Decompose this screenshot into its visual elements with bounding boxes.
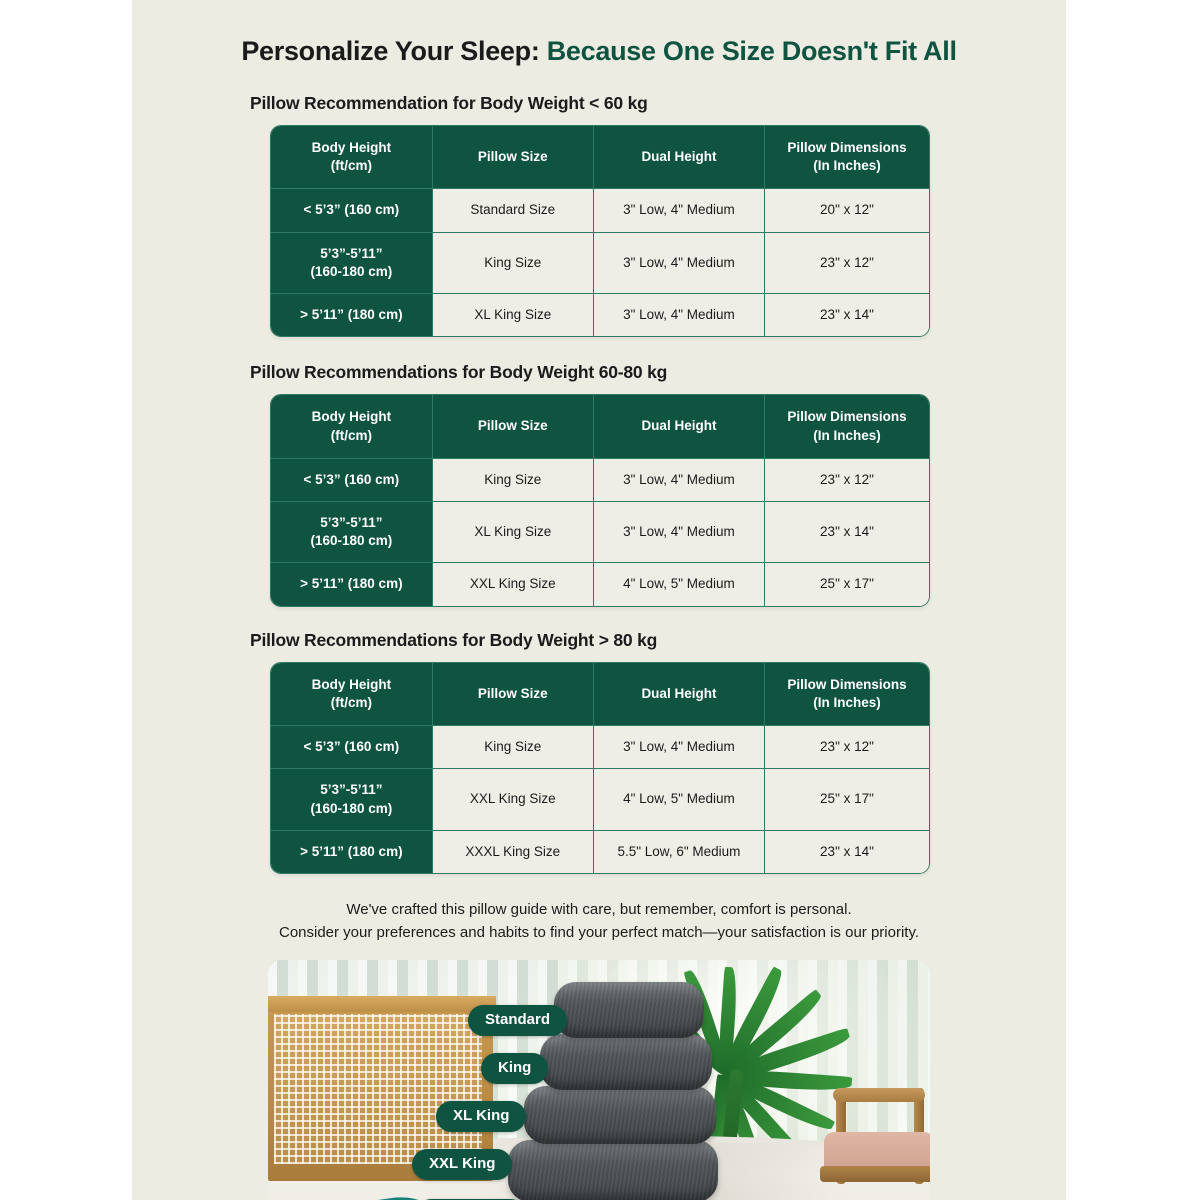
pillow-standard xyxy=(554,982,704,1038)
cell-body-height-line2: (160-180 cm) xyxy=(275,532,428,550)
cell-dual-height: 3" Low, 4" Medium xyxy=(593,189,764,232)
cell-body-height: < 5’3” (160 cm) xyxy=(271,189,432,232)
table-row: < 5’3” (160 cm) King Size 3" Low, 4" Med… xyxy=(271,458,929,501)
col-header-body-height-line1: Body Height xyxy=(275,139,428,157)
table-row: > 5’11” (180 cm) XXL King Size 4" Low, 5… xyxy=(271,563,929,606)
table-3: Body Height (ft/cm) Pillow Size Dual Hei… xyxy=(271,663,929,873)
pillow-king xyxy=(540,1034,712,1090)
col-header-pillow-size: Pillow Size xyxy=(432,126,593,189)
table-row: > 5’11” (180 cm) XXXL King Size 5.5" Low… xyxy=(271,830,929,873)
pillow-label-xl-king: XL King xyxy=(436,1101,526,1132)
col-header-pillow-dimensions: Pillow Dimensions (In Inches) xyxy=(764,395,929,458)
cell-body-height-line1: < 5’3” (160 cm) xyxy=(275,738,428,756)
cell-dimensions: 20" x 12" xyxy=(764,189,929,232)
cell-dual-height: 3" Low, 4" Medium xyxy=(593,501,764,562)
cell-dimensions: 25" x 17" xyxy=(764,769,929,830)
col-header-pillow-dimensions-line1: Pillow Dimensions xyxy=(769,139,925,157)
chair-seat-base xyxy=(820,1166,930,1182)
cell-body-height-line1: < 5’3” (160 cm) xyxy=(275,471,428,489)
page-title: Personalize Your Sleep: Because One Size… xyxy=(132,36,1066,67)
content-panel: Personalize Your Sleep: Because One Size… xyxy=(132,0,1066,1200)
table-2-body: < 5’3” (160 cm) King Size 3" Low, 4" Med… xyxy=(271,458,929,605)
pillow-label-king: King xyxy=(481,1053,548,1084)
cell-body-height-line1: > 5’11” (180 cm) xyxy=(275,843,428,861)
cell-pillow-size: XL King Size xyxy=(432,294,593,337)
cell-body-height: 5’3”-5’11” (160-180 cm) xyxy=(271,501,432,562)
page-title-green: Because One Size Doesn't Fit All xyxy=(547,36,957,66)
cell-body-height-line1: 5’3”-5’11” xyxy=(275,514,428,532)
col-header-pillow-dimensions-line2: (In Inches) xyxy=(769,694,925,712)
table-1-body: < 5’3” (160 cm) Standard Size 3" Low, 4"… xyxy=(271,189,929,336)
col-header-body-height-line1: Body Height xyxy=(275,676,428,694)
table-row: 5’3”-5’11” (160-180 cm) XL King Size 3" … xyxy=(271,501,929,562)
cell-body-height-line1: > 5’11” (180 cm) xyxy=(275,575,428,593)
pillow-table-3: Body Height (ft/cm) Pillow Size Dual Hei… xyxy=(270,662,930,874)
pillow-label-xxl-king: XXL King xyxy=(412,1149,512,1180)
cell-body-height-line1: 5’3”-5’11” xyxy=(275,781,428,799)
pillow-table-1: Body Height (ft/cm) Pillow Size Dual Hei… xyxy=(270,125,930,337)
cell-pillow-size: King Size xyxy=(432,232,593,293)
col-header-body-height: Body Height (ft/cm) xyxy=(271,126,432,189)
rattan-weave xyxy=(274,1014,482,1164)
cell-dual-height: 3" Low, 4" Medium xyxy=(593,294,764,337)
cell-body-height: < 5’3” (160 cm) xyxy=(271,726,432,769)
pillow-xl-king xyxy=(524,1086,716,1144)
table-3-body: < 5’3” (160 cm) King Size 3" Low, 4" Med… xyxy=(271,726,929,873)
col-header-dual-height: Dual Height xyxy=(593,395,764,458)
cell-body-height: > 5’11” (180 cm) xyxy=(271,563,432,606)
closing-note-line-1: We've crafted this pillow guide with car… xyxy=(132,898,1066,921)
cell-dimensions: 23" x 12" xyxy=(764,458,929,501)
cell-pillow-size: Standard Size xyxy=(432,189,593,232)
section-heading-2: Pillow Recommendations for Body Weight 6… xyxy=(250,362,1066,383)
col-header-pillow-size: Pillow Size xyxy=(432,663,593,726)
cell-dual-height: 3" Low, 4" Medium xyxy=(593,458,764,501)
pillow-label-standard: Standard xyxy=(468,1005,567,1036)
table-1: Body Height (ft/cm) Pillow Size Dual Hei… xyxy=(271,126,929,336)
cell-body-height-line1: > 5’11” (180 cm) xyxy=(275,306,428,324)
cell-dimensions: 23" x 14" xyxy=(764,830,929,873)
closing-note-line-2: Consider your preferences and habits to … xyxy=(132,921,1066,944)
cell-body-height: 5’3”-5’11” (160-180 cm) xyxy=(271,769,432,830)
cell-dimensions: 23" x 12" xyxy=(764,232,929,293)
headboard-top-rail xyxy=(268,996,496,1012)
cell-dual-height: 4" Low, 5" Medium xyxy=(593,563,764,606)
chair-backrest xyxy=(833,1088,925,1102)
table-2-head: Body Height (ft/cm) Pillow Size Dual Hei… xyxy=(271,395,929,458)
cell-body-height: > 5’11” (180 cm) xyxy=(271,294,432,337)
col-header-pillow-dimensions-line2: (In Inches) xyxy=(769,157,925,175)
table-1-head: Body Height (ft/cm) Pillow Size Dual Hei… xyxy=(271,126,929,189)
col-header-pillow-size: Pillow Size xyxy=(432,395,593,458)
table-header-row: Body Height (ft/cm) Pillow Size Dual Hei… xyxy=(271,126,929,189)
page-root: Personalize Your Sleep: Because One Size… xyxy=(0,0,1200,1200)
col-header-pillow-dimensions-line1: Pillow Dimensions xyxy=(769,676,925,694)
table-row: < 5’3” (160 cm) King Size 3" Low, 4" Med… xyxy=(271,726,929,769)
cell-pillow-size: XXL King Size xyxy=(432,769,593,830)
cell-dual-height: 4" Low, 5" Medium xyxy=(593,769,764,830)
cell-body-height-line1: < 5’3” (160 cm) xyxy=(275,201,428,219)
cell-body-height: > 5’11” (180 cm) xyxy=(271,830,432,873)
cell-pillow-size: King Size xyxy=(432,458,593,501)
cell-body-height-line2: (160-180 cm) xyxy=(275,263,428,281)
table-row: > 5’11” (180 cm) XL King Size 3" Low, 4"… xyxy=(271,294,929,337)
cell-dimensions: 23" x 12" xyxy=(764,726,929,769)
cell-pillow-size: XXXL King Size xyxy=(432,830,593,873)
section-heading-3: Pillow Recommendations for Body Weight >… xyxy=(250,630,1066,651)
cell-pillow-size: King Size xyxy=(432,726,593,769)
col-header-pillow-dimensions-line1: Pillow Dimensions xyxy=(769,408,925,426)
col-header-body-height-line2: (ft/cm) xyxy=(275,157,428,175)
col-header-body-height: Body Height (ft/cm) xyxy=(271,395,432,458)
table-row: 5’3”-5’11” (160-180 cm) XXL King Size 4"… xyxy=(271,769,929,830)
col-header-dual-height: Dual Height xyxy=(593,126,764,189)
cell-dual-height: 3" Low, 4" Medium xyxy=(593,232,764,293)
cell-body-height-line1: 5’3”-5’11” xyxy=(275,245,428,263)
cell-body-height: 5’3”-5’11” (160-180 cm) xyxy=(271,232,432,293)
table-3-head: Body Height (ft/cm) Pillow Size Dual Hei… xyxy=(271,663,929,726)
col-header-pillow-dimensions-line2: (In Inches) xyxy=(769,427,925,445)
col-header-body-height-line2: (ft/cm) xyxy=(275,694,428,712)
col-header-dual-height: Dual Height xyxy=(593,663,764,726)
cell-dual-height: 5.5" Low, 6" Medium xyxy=(593,830,764,873)
col-header-body-height: Body Height (ft/cm) xyxy=(271,663,432,726)
section-heading-1: Pillow Recommendation for Body Weight < … xyxy=(250,93,1066,114)
table-row: 5’3”-5’11” (160-180 cm) King Size 3" Low… xyxy=(271,232,929,293)
col-header-pillow-dimensions: Pillow Dimensions (In Inches) xyxy=(764,663,929,726)
pillow-stack-photo: Standard King XL King XXL King XXXL King xyxy=(268,960,930,1200)
table-header-row: Body Height (ft/cm) Pillow Size Dual Hei… xyxy=(271,395,929,458)
table-header-row: Body Height (ft/cm) Pillow Size Dual Hei… xyxy=(271,663,929,726)
col-header-body-height-line2: (ft/cm) xyxy=(275,427,428,445)
cell-dual-height: 3" Low, 4" Medium xyxy=(593,726,764,769)
cell-pillow-size: XL King Size xyxy=(432,501,593,562)
cell-pillow-size: XXL King Size xyxy=(432,563,593,606)
closing-note: We've crafted this pillow guide with car… xyxy=(132,898,1066,945)
cell-dimensions: 25" x 17" xyxy=(764,563,929,606)
cell-body-height: < 5’3” (160 cm) xyxy=(271,458,432,501)
cell-dimensions: 23" x 14" xyxy=(764,501,929,562)
col-header-pillow-dimensions: Pillow Dimensions (In Inches) xyxy=(764,126,929,189)
col-header-body-height-line1: Body Height xyxy=(275,408,428,426)
page-title-dark: Personalize Your Sleep: xyxy=(241,36,539,66)
pillow-xxl-king xyxy=(508,1140,718,1200)
cell-dimensions: 23" x 14" xyxy=(764,294,929,337)
pillow-table-2: Body Height (ft/cm) Pillow Size Dual Hei… xyxy=(270,394,930,606)
table-row: < 5’3” (160 cm) Standard Size 3" Low, 4"… xyxy=(271,189,929,232)
cell-body-height-line2: (160-180 cm) xyxy=(275,800,428,818)
table-2: Body Height (ft/cm) Pillow Size Dual Hei… xyxy=(271,395,929,605)
